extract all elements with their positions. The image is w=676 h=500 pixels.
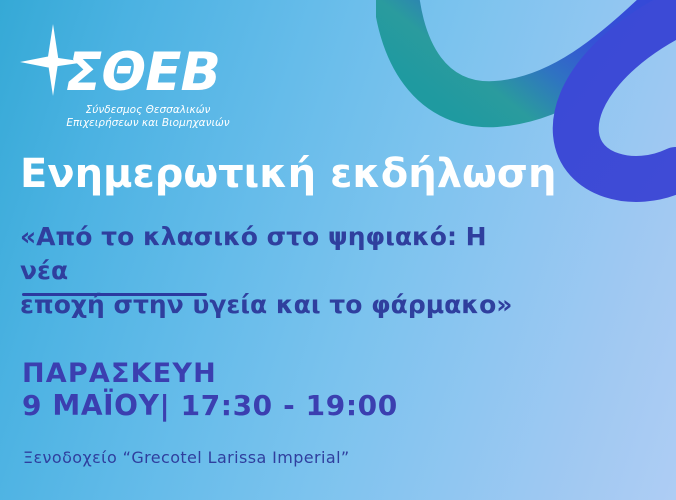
event-poster: ΣΘΕΒ Σύνδεσμος Θεσσαλικών Επιχειρήσεων κ… — [0, 0, 676, 500]
event-day: ΠΑΡΑΣΚΕΥΗ — [22, 358, 398, 389]
event-headline: Ενημερωτική εκδήλωση — [20, 153, 556, 195]
event-subject: «Από το κλασικό στο ψηφιακό: Η νέα εποχή… — [20, 220, 540, 322]
logo-wordmark: ΣΘΕΒ — [66, 46, 220, 99]
logo-subtitle-line1: Σύνδεσμος Θεσσαλικών — [58, 104, 238, 117]
event-venue: Ξενοδοχείο “Grecotel Larissa Imperial” — [23, 448, 350, 467]
logo-subtitle: Σύνδεσμος Θεσσαλικών Επιχειρήσεων και Βι… — [58, 104, 238, 131]
event-subject-line1: «Από το κλασικό στο ψηφιακό: Η νέα — [20, 220, 540, 288]
logo-subtitle-line2: Επιχειρήσεων και Βιομηχανιών — [58, 117, 238, 130]
event-schedule: ΠΑΡΑΣΚΕΥΗ 9 ΜΑΪΟΥ| 17:30 - 19:00 — [22, 358, 398, 422]
event-date-time: 9 ΜΑΪΟΥ| 17:30 - 19:00 — [22, 389, 398, 422]
divider-rule — [22, 293, 207, 296]
